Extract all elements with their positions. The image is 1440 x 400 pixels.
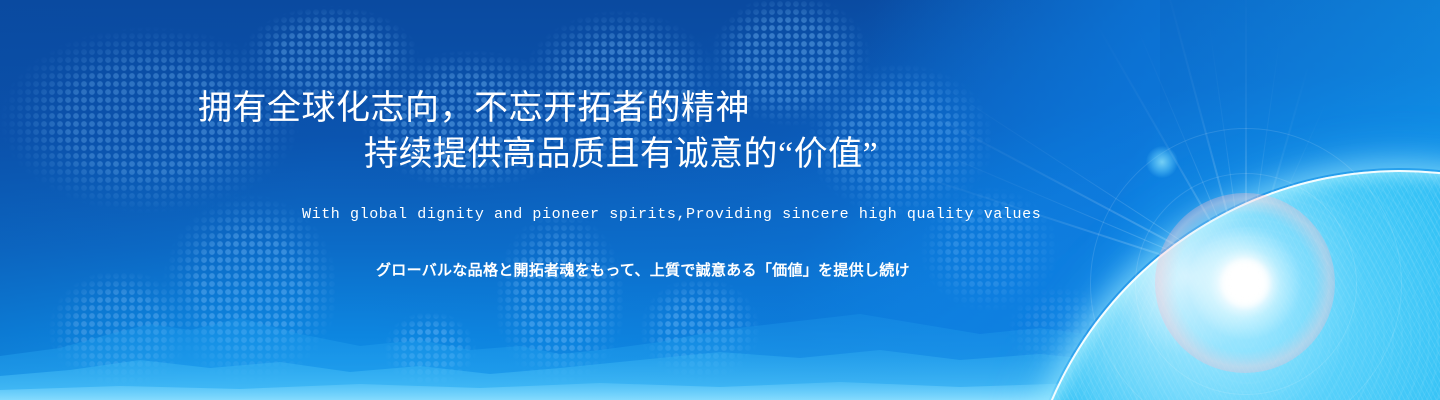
headline-line-1: 拥有全球化志向，不忘开拓者的精神 xyxy=(0,86,1440,132)
headline-line-2: 持续提供高品质且有诚意的“价值” xyxy=(0,132,1440,178)
banner-text-layer: 拥有全球化志向，不忘开拓者的精神 持续提供高品质且有诚意的“价值” With g… xyxy=(0,0,1440,400)
subtitle-japanese: グローバルな品格と開拓者魂をもって、上質で誠意ある「価値」を提供し続け xyxy=(376,259,910,280)
headline-block: 拥有全球化志向，不忘开拓者的精神 持续提供高品质且有诚意的“价值” xyxy=(0,86,1440,178)
subtitle-english: With global dignity and pioneer spirits,… xyxy=(302,206,1041,223)
hero-banner: 拥有全球化志向，不忘开拓者的精神 持续提供高品质且有诚意的“价值” With g… xyxy=(0,0,1440,400)
